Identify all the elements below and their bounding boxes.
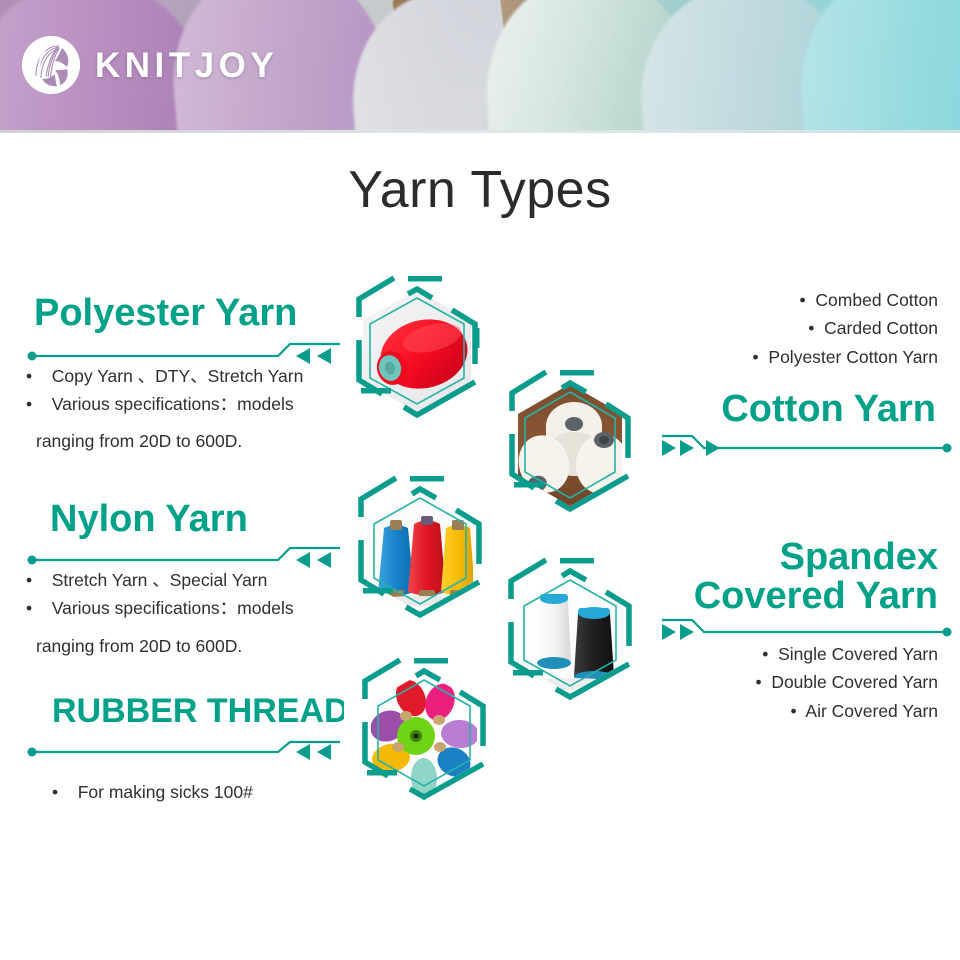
section-title-nylon: Nylon Yarn bbox=[50, 500, 248, 539]
list-item: • Stretch Yarn 、Special Yarn bbox=[26, 566, 344, 594]
bullets-cotton: • Combed Cotton • Carded Cotton • Polyes… bbox=[518, 286, 938, 371]
list-item: • Combed Cotton bbox=[518, 286, 938, 314]
list-item: • Various specifications：models bbox=[26, 390, 338, 418]
knitjoy-yarn-k-mark-icon bbox=[22, 36, 80, 94]
hex-image-polyester bbox=[332, 268, 502, 464]
section-title-rubber: RUBBER THREAD bbox=[52, 694, 344, 729]
connector-spandex bbox=[662, 612, 952, 642]
hex-image-cotton bbox=[482, 364, 658, 554]
bullets-nylon-continuation: ranging from 20D to 600D. bbox=[36, 632, 242, 660]
list-item-continuation: ranging from 20D to 600D. bbox=[36, 427, 242, 455]
list-item-continuation: ranging from 20D to 600D. bbox=[36, 632, 242, 660]
header-divider bbox=[0, 130, 960, 133]
section-title-spandex: Spandex Covered Yarn bbox=[518, 538, 938, 616]
brand-logo[interactable]: KNITJOY bbox=[22, 36, 278, 94]
section-title-cotton: Cotton Yarn bbox=[721, 390, 936, 429]
brand-logo-text: KNITJOY bbox=[95, 48, 278, 83]
page-title: Yarn Types bbox=[0, 160, 960, 220]
section-title-polyester: Polyester Yarn bbox=[34, 294, 297, 333]
list-item: • Various specifications：models bbox=[26, 594, 344, 622]
section-title-spandex-line2: Covered Yarn bbox=[518, 577, 938, 616]
list-item: • Air Covered Yarn bbox=[518, 697, 938, 725]
section-title-spandex-line1: Spandex bbox=[518, 538, 938, 577]
list-item: • Double Covered Yarn bbox=[518, 668, 938, 696]
header-banner: KNITJOY bbox=[0, 0, 960, 133]
bullets-polyester: • Copy Yarn 、DTY、Stretch Yarn • Various … bbox=[26, 362, 338, 419]
list-item: • Copy Yarn 、DTY、Stretch Yarn bbox=[26, 362, 338, 390]
list-item: • Polyester Cotton Yarn bbox=[518, 343, 938, 371]
connector-rubber bbox=[28, 738, 348, 768]
bullets-nylon: • Stretch Yarn 、Special Yarn • Various s… bbox=[26, 566, 344, 623]
bullets-polyester-continuation: ranging from 20D to 600D. bbox=[36, 427, 242, 455]
connector-cotton bbox=[662, 428, 952, 458]
list-item: • Carded Cotton bbox=[518, 314, 938, 342]
bullets-rubber: • For making sicks 100# bbox=[52, 778, 253, 806]
section-title-rubber-clip: RUBBER THREAD bbox=[26, 694, 344, 740]
bullets-spandex: • Single Covered Yarn • Double Covered Y… bbox=[518, 640, 938, 725]
list-item: • For making sicks 100# bbox=[52, 778, 253, 806]
list-item: • Single Covered Yarn bbox=[518, 640, 938, 668]
hex-image-rubber bbox=[336, 650, 512, 846]
